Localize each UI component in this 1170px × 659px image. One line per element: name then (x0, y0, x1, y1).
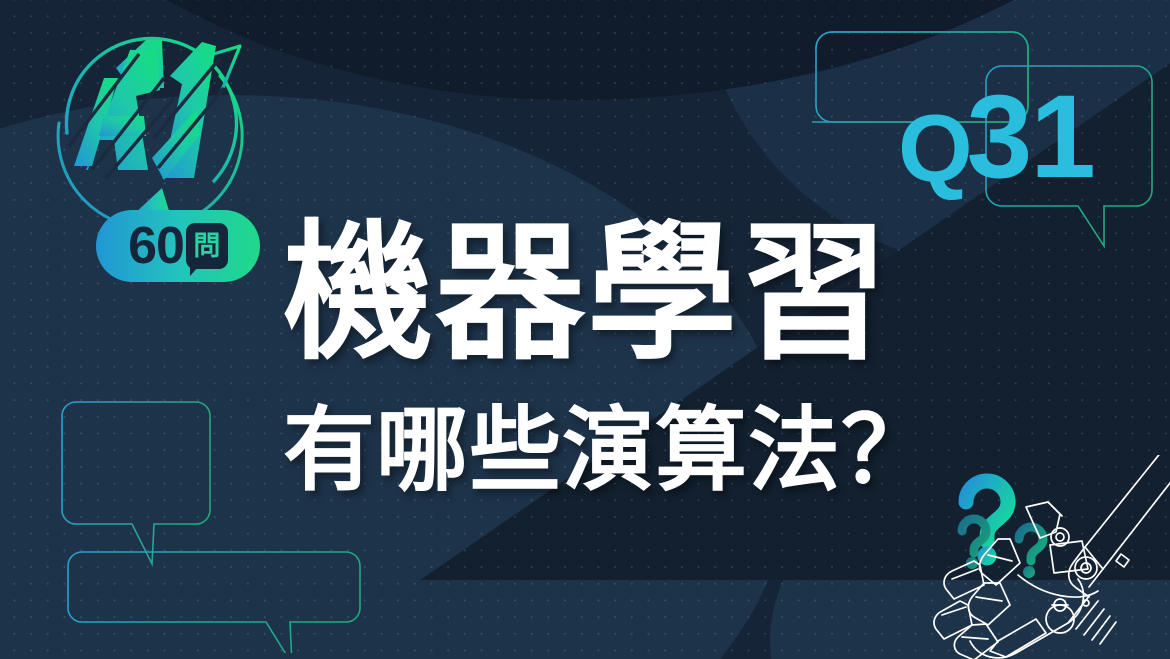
ai-60-questions-logo: 60 問 (44, 18, 274, 283)
speech-bubbles-bottom-left (58, 388, 388, 658)
question-number: 31 (967, 71, 1094, 203)
question-prefix-q: Q (898, 95, 967, 202)
logo-letter-a (74, 40, 164, 170)
question-number-badge: Q31 (898, 78, 1094, 197)
cover-slide: Q31 (0, 0, 1170, 659)
badge-number-60: 60 (128, 220, 184, 272)
speech-bubble-outline-3 (62, 402, 210, 564)
robot-hand-illustration (900, 455, 1170, 659)
speech-bubble-outline-4 (68, 552, 360, 653)
badge-unit-character: 問 (186, 223, 228, 269)
page-title: 機器學習 (283, 219, 891, 369)
